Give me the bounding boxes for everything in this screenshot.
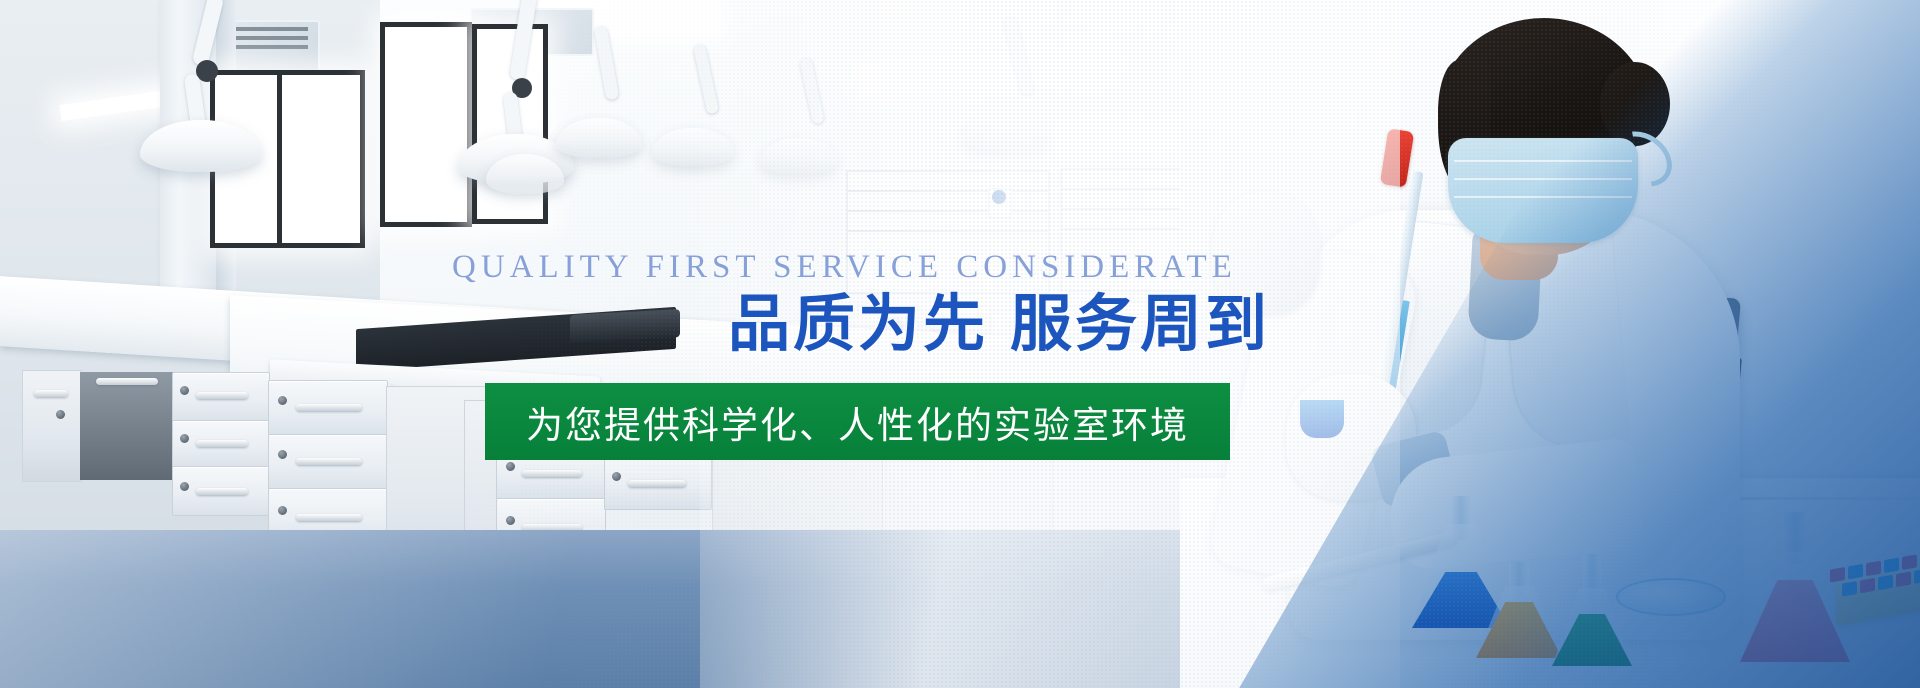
drawer-handle xyxy=(196,488,248,495)
drawer-lock xyxy=(506,516,515,525)
drawer-lock xyxy=(278,396,287,405)
drawer-lock xyxy=(180,482,189,491)
cabinet-handle xyxy=(96,378,158,385)
cabinet-lock xyxy=(56,410,65,419)
petri-dish xyxy=(1616,578,1726,616)
pipette-tip xyxy=(1878,575,1893,591)
cabinet-shadow-gap xyxy=(80,372,176,480)
pipette-tip xyxy=(1914,568,1920,584)
headline: 品质为先服务周到 xyxy=(728,294,1270,356)
safety-sticker-symbol xyxy=(992,190,1006,204)
drawer-handle xyxy=(628,480,686,487)
surgical-mask xyxy=(1448,138,1638,243)
pipette-tip xyxy=(1860,578,1875,594)
drawer-lock xyxy=(278,506,287,515)
held-flask-blue-liquid xyxy=(1300,400,1344,438)
pipette-tip xyxy=(1902,554,1917,570)
drawer-lock xyxy=(612,472,621,481)
drawer-lock xyxy=(278,450,287,459)
pipette-tip xyxy=(1896,571,1911,587)
flask-green xyxy=(1552,554,1632,666)
drawer-handle xyxy=(196,440,248,447)
drawer-handle xyxy=(522,470,582,477)
pipette-tip xyxy=(1884,557,1899,573)
drawer-lock xyxy=(506,462,515,471)
cabinet-left xyxy=(22,370,82,482)
pipette-tip xyxy=(1866,561,1881,577)
drawer-lock xyxy=(180,434,189,443)
subtitle-text: 为您提供科学化、人性化的实验室环境 xyxy=(526,395,1189,449)
subtitle-green-bar: 为您提供科学化、人性化的实验室环境 xyxy=(485,383,1230,460)
drawer-handle xyxy=(296,458,362,465)
pipette-tip xyxy=(1848,564,1863,580)
hero-banner: QUALITY FIRST SERVICE CONSIDERATE 品质为先服务… xyxy=(0,0,1920,688)
flask-orange xyxy=(1476,562,1562,658)
cabinet-handle xyxy=(34,390,68,397)
drawer-handle xyxy=(296,404,362,411)
pipette-bulb-icon xyxy=(1380,128,1414,187)
drawer-handle xyxy=(296,514,362,521)
headline-part-1: 品质为先 xyxy=(728,290,988,359)
drawer-lock xyxy=(180,386,189,395)
drawer-handle xyxy=(196,392,248,399)
floor-reflection xyxy=(0,530,1250,688)
pipette-tip xyxy=(1842,581,1857,597)
pipette-tip xyxy=(1830,567,1845,583)
window xyxy=(380,22,472,227)
headline-part-2: 服务周到 xyxy=(1010,290,1270,359)
scientist-photo xyxy=(1180,0,1920,688)
bench-handle-black xyxy=(570,309,680,343)
english-tagline: QUALITY FIRST SERVICE CONSIDERATE xyxy=(452,249,1237,286)
